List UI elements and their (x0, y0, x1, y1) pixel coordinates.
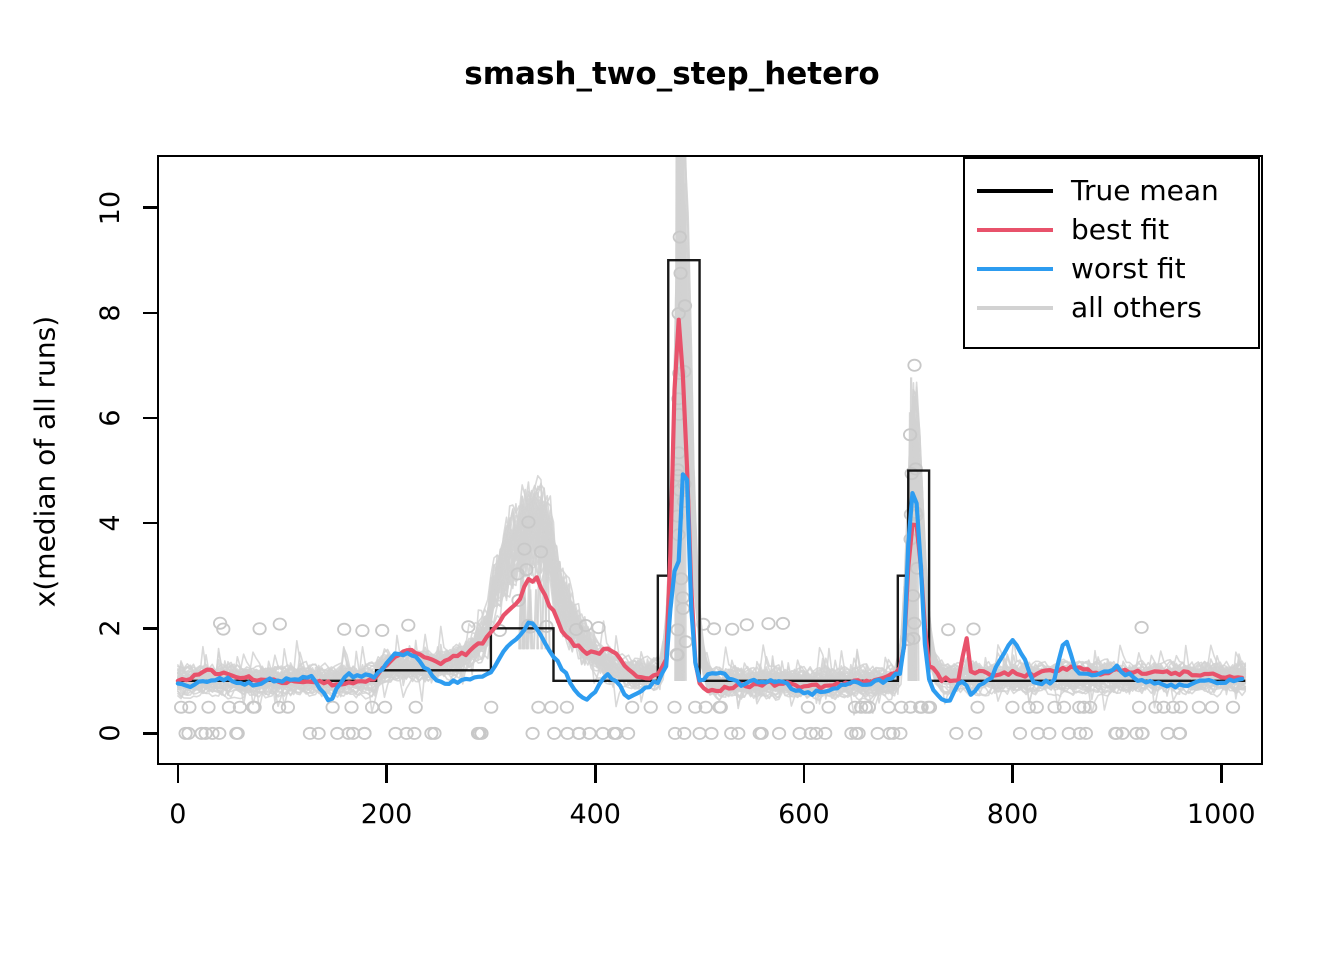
x-axis-tick (177, 765, 180, 783)
scatter-marker (1167, 702, 1179, 713)
scatter-marker (802, 702, 814, 713)
legend-label: all others (1071, 294, 1202, 322)
scatter-marker (1006, 702, 1018, 713)
y-axis-tick (143, 312, 157, 315)
y-axis-tick (143, 627, 157, 630)
scatter-marker (645, 702, 657, 713)
y-axis-tick (143, 522, 157, 525)
scatter-marker (532, 702, 544, 713)
scatter-marker (1227, 702, 1239, 713)
page-title: smash_two_step_hetero (0, 56, 1344, 92)
legend-label: worst fit (1071, 255, 1186, 283)
x-axis-tick-label: 400 (535, 799, 655, 830)
scatter-marker (1135, 622, 1147, 633)
scatter-marker (1174, 728, 1186, 739)
y-axis-tick-label: 8 (93, 285, 129, 341)
scatter-marker (408, 728, 420, 739)
background-run-line (178, 348, 1245, 693)
scatter-marker (942, 624, 954, 635)
scatter-marker (668, 702, 680, 713)
chart-figure: smash_two_step_hetero x(median of all ru… (0, 0, 1344, 960)
scatter-marker (304, 728, 316, 739)
y-axis-tick (143, 732, 157, 735)
scatter-marker (526, 728, 538, 739)
scatter-marker (356, 625, 368, 636)
scatter-marker (376, 625, 388, 636)
background-run-line (178, 287, 1245, 710)
series-line-best-fit (178, 320, 1242, 692)
x-axis-tick (803, 765, 806, 783)
scatter-marker (967, 623, 979, 634)
x-axis-tick-label: 1000 (1161, 799, 1281, 830)
scatter-marker (822, 702, 834, 713)
background-run-line (178, 308, 1245, 696)
scatter-marker (179, 728, 191, 739)
scatter-marker (708, 623, 720, 634)
scatter-marker (819, 728, 831, 739)
scatter-marker (379, 702, 391, 713)
scatter-marker (693, 728, 705, 739)
scatter-marker (1162, 728, 1174, 739)
background-run-line (178, 308, 1245, 694)
background-run-line (178, 404, 1245, 698)
scatter-marker (326, 702, 338, 713)
scatter-marker (678, 728, 690, 739)
background-run-line (178, 312, 1245, 704)
background-run-line (178, 293, 1245, 701)
scatter-marker (969, 728, 981, 739)
legend-swatch-icon (977, 306, 1053, 310)
x-axis-tick-label: 200 (327, 799, 447, 830)
scatter-marker (950, 728, 962, 739)
scatter-marker (545, 702, 557, 713)
y-axis-tick-label: 0 (93, 705, 129, 761)
scatter-marker (1133, 702, 1145, 713)
x-axis-tick-label: 600 (744, 799, 864, 830)
scatter-marker (872, 728, 884, 739)
scatter-marker (345, 702, 357, 713)
legend-swatch-icon (977, 267, 1053, 271)
background-run-line (178, 321, 1245, 706)
legend-swatch-icon (977, 189, 1053, 193)
legend-rows: True meanbest fitworst fitall others (965, 159, 1258, 327)
scatter-marker (705, 728, 717, 739)
scatter-marker (882, 702, 894, 713)
background-run-line (178, 398, 1245, 705)
scatter-marker (626, 702, 638, 713)
x-axis-tick (1011, 765, 1014, 783)
scatter-marker (175, 702, 187, 713)
scatter-marker (726, 624, 738, 635)
scatter-marker (1193, 702, 1205, 713)
legend-item-best-fit[interactable]: best fit (965, 210, 1258, 249)
y-axis-tick-label: 4 (93, 495, 129, 551)
y-axis-tick-label: 10 (93, 180, 129, 236)
legend-swatch-icon (977, 228, 1053, 232)
scatter-marker (338, 624, 350, 635)
background-run-line (178, 317, 1245, 693)
background-run-line (178, 337, 1245, 696)
y-axis-label: x(median of all runs) (29, 152, 62, 772)
scatter-marker (182, 728, 194, 739)
scatter-marker (762, 618, 774, 629)
legend-item-worst-fit[interactable]: worst fit (965, 249, 1258, 288)
x-axis-tick (1220, 765, 1223, 783)
scatter-marker (622, 728, 634, 739)
scatter-marker (971, 702, 983, 713)
scatter-marker (274, 619, 286, 630)
scatter-marker (777, 618, 789, 629)
background-run-line (178, 315, 1245, 699)
background-run-line (178, 333, 1245, 696)
scatter-marker (741, 619, 753, 630)
scatter-marker (561, 702, 573, 713)
scatter-marker (1014, 728, 1026, 739)
legend-item-all-others[interactable]: all others (965, 288, 1258, 327)
scatter-marker (485, 702, 497, 713)
scatter-marker (1206, 702, 1218, 713)
scatter-marker (253, 623, 265, 634)
scatter-marker (773, 728, 785, 739)
x-axis-tick-label: 800 (953, 799, 1073, 830)
x-axis-tick (385, 765, 388, 783)
y-axis-tick-label: 2 (93, 600, 129, 656)
x-axis-tick-label: 0 (118, 799, 238, 830)
scatter-marker (202, 702, 214, 713)
y-axis-tick-label: 6 (93, 390, 129, 446)
scatter-marker (548, 728, 560, 739)
legend: True meanbest fitworst fitall others (963, 157, 1260, 349)
legend-label: best fit (1071, 216, 1169, 244)
y-axis-tick (143, 417, 157, 420)
scatter-marker (1048, 702, 1060, 713)
scatter-marker (908, 360, 920, 371)
x-axis-tick (594, 765, 597, 783)
background-run-line (178, 318, 1245, 703)
background-run-line (178, 292, 1245, 715)
y-axis-tick (143, 206, 157, 209)
scatter-marker (402, 620, 414, 631)
scatter-marker (410, 702, 422, 713)
legend-item-True-mean[interactable]: True mean (965, 171, 1258, 210)
legend-label: True mean (1071, 177, 1219, 205)
